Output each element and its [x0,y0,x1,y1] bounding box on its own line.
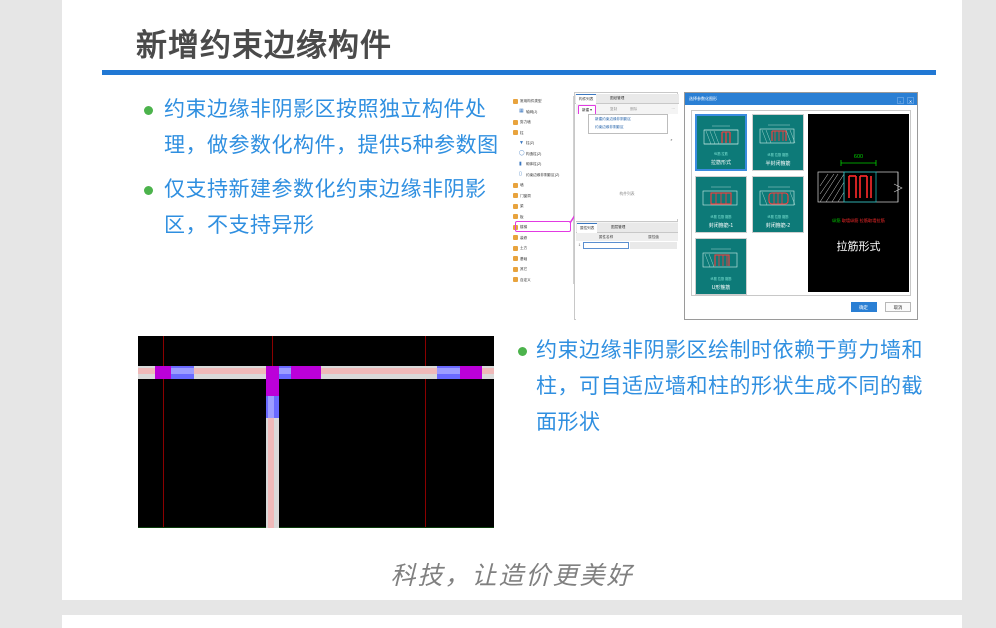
tree-item[interactable]: 剪力墙 [510,117,573,128]
tree-item[interactable]: 自定义 [510,275,573,285]
preview-drawing [808,114,909,292]
close-icon[interactable]: ✕ [907,97,914,104]
search-icon[interactable]: ⌕ [667,136,676,143]
bullet-item-right: 约束边缘非阴影区绘制时依赖于剪力墙和柱，可自适应墙和柱的形状生成不同的截面形状 [518,333,926,441]
grid-icon: ▦ [519,109,524,114]
cad-non-shadow-zone [266,366,279,396]
tab-property-list[interactable]: 属性列表 [577,223,597,233]
property-grid-empty [576,249,678,321]
thumbnail-sublabel: 纵筋 拉筋 箍筋 [753,214,803,219]
cad-axis-line [163,336,164,528]
bullet-dot-icon [144,106,153,115]
tree-item[interactable]: 柱 [510,128,573,139]
tree-item[interactable]: 墙 [510,180,573,191]
tree-selection-highlight [515,221,571,232]
tree-item[interactable]: ◯构造柱(Z) [510,149,573,160]
folder-icon [513,246,518,251]
cad-plan-view [138,336,494,528]
bullet-dot-icon [518,347,527,356]
tree-item-constrained-edge[interactable]: ▯约束边缘非阴影区(Z) [510,170,573,181]
figure-thumbnail[interactable]: 纵筋 拉筋 箍筋 封闭箍筋-2 [752,176,804,233]
bullet-item: 约束边缘非阴影区按照独立构件处理，做参数化构件，提供5种参数图 [140,92,520,164]
bullet-text: 约束边缘非阴影区按照独立构件处理，做参数化构件，提供5种参数图 [164,98,499,157]
restore-icon[interactable]: ▫ [897,97,904,104]
cad-axis-line [138,527,494,528]
cad-non-shadow-zone [291,366,321,379]
rebar-diagram-icon [701,183,743,213]
dialog-titlebar: 选择参数化图形 ▫ ✕ [685,93,917,105]
copy-button[interactable]: 复制 [610,105,617,113]
row-number: 1 [577,241,582,249]
column-icon: ▯ [519,172,524,177]
ok-button[interactable]: 确定 [851,302,877,312]
tree-item[interactable]: 装修 [510,233,573,244]
column-header-value: 属性值 [630,233,677,241]
figure-thumbnail-grid: 纵筋 拉筋 拉筋形式 纵筋 拉筋 箍筋 半封闭箍筋 [695,114,805,292]
cad-non-shadow-zone [155,366,171,379]
annotation-wall-longitudinal: 取墙纵筋 [842,218,859,223]
folder-icon [513,214,518,219]
preview-title: 拉筋形式 [808,238,909,254]
property-tabstrip: 属性列表 图层管理 [576,223,678,233]
title-underline [102,70,936,75]
bullet-text: 仅支持新建参数化约束边缘非阴影区，不支持异形 [164,178,487,237]
thumbnail-label: U形箍筋 [696,284,746,291]
property-panel: 属性列表 图层管理 属性名称 属性值 1 [576,221,678,321]
tree-item[interactable]: 常用构件类型 [510,96,573,107]
component-list-panel: 构件列表 图纸管理 新建 ▾ 复制 删除 ⋯ ⌕ 构件列表 新建约束边缘非阴影区… [574,92,678,320]
figure-thumbnail[interactable]: 纵筋 拉筋 箍筋 U形箍筋 [695,238,747,295]
menu-item-constrained-edge[interactable]: 约束边缘非阴影区 [589,123,667,131]
folder-icon [513,256,518,261]
slide-canvas: 新增约束边缘构件 约束边缘非阴影区按照独立构件处理，做参数化构件，提供5种参数图… [62,0,962,600]
figure-thumbnail[interactable]: 纵筋 拉筋 拉筋形式 [695,114,747,171]
preview-annotations: 纵筋 取墙纵筋 拉筋取墙拉筋 [808,218,909,224]
rebar-diagram-icon [702,122,744,152]
preview-dimension-label: 600 [808,154,909,160]
toolbar-overflow-icon[interactable]: ⋯ [671,105,675,113]
thumbnail-label: 半封闭箍筋 [753,160,803,167]
bullet-dot-icon [144,186,153,195]
list-tabstrip: 构件列表 图纸管理 [575,94,679,104]
column-icon: ▼ [519,141,524,146]
cad-axis-line [425,336,426,528]
rebar-diagram-icon [758,183,800,213]
bullet-text: 约束边缘非阴影区绘制时依赖于剪力墙和柱，可自适应墙和柱的形状生成不同的截面形状 [536,339,923,434]
rebar-diagram-icon [701,245,743,275]
folder-icon [513,183,518,188]
tree-item[interactable]: 梁 [510,201,573,212]
thumbnail-sublabel: 纵筋 拉筋 [697,151,745,156]
cad-shadow-core [268,396,274,418]
tree-item[interactable]: 土方 [510,243,573,254]
software-screenshot: 常用构件类型 ▦轴网(J) 剪力墙 柱 ▼柱(Z) ◯构造柱(Z) ▮砌体柱(Z… [510,92,918,320]
cancel-button[interactable]: 取消 [885,302,911,312]
tree-item[interactable]: 其它 [510,264,573,275]
rebar-diagram-icon [758,121,800,151]
thumbnail-label: 拉筋形式 [697,159,745,166]
thumbnail-label: 封闭箍筋-1 [696,222,746,229]
property-value-cell[interactable] [630,242,677,249]
thumbnail-sublabel: 纵筋 拉筋 箍筋 [696,214,746,219]
parametric-figure-dialog: 选择参数化图形 ▫ ✕ [684,92,918,320]
annotation-longitudinal: 纵筋 [832,218,840,223]
figure-thumbnail[interactable]: 纵筋 拉筋 箍筋 半封闭箍筋 [752,114,804,171]
dialog-title-text: 选择参数化图形 [689,96,717,101]
menu-item-new-constrained-edge[interactable]: 新建约束边缘非阴影区 [589,115,667,123]
slide-footer-tagline: 科技，让造价更美好 [62,556,962,592]
component-tree-panel[interactable]: 常用构件类型 ▦轴网(J) 剪力墙 柱 ▼柱(Z) ◯构造柱(Z) ▮砌体柱(Z… [510,96,574,284]
folder-icon [513,99,518,104]
cad-shadow-core [170,368,194,374]
tree-item[interactable]: ▦轴网(J) [510,107,573,118]
new-dropdown-menu[interactable]: 新建约束边缘非阴影区 约束边缘非阴影区 [588,114,668,134]
empty-list-text: 构件列表 [576,192,678,197]
dialog-body: 纵筋 拉筋 拉筋形式 纵筋 拉筋 箍筋 半封闭箍筋 [691,110,911,296]
bullet-list-left: 约束边缘非阴影区按照独立构件处理，做参数化构件，提供5种参数图 仅支持新建参数化… [140,92,520,252]
tree-item[interactable]: ▼柱(Z) [510,138,573,149]
bullet-item: 仅支持新建参数化约束边缘非阴影区，不支持异形 [140,172,520,244]
column-icon: ▮ [519,162,524,167]
figure-preview: 600 纵筋 取墙纵筋 拉筋取墙拉筋 拉筋形式 [808,114,909,292]
folder-icon [513,130,518,135]
delete-button[interactable]: 删除 [630,105,637,113]
thumbnail-sublabel: 纵筋 拉筋 箍筋 [696,276,746,281]
tree-item[interactable]: ▮砌体柱(Z) [510,159,573,170]
figure-thumbnail[interactable]: 纵筋 拉筋 箍筋 封闭箍筋-1 [695,176,747,233]
tree-item[interactable]: 门窗洞 [510,191,573,202]
folder-icon [513,235,518,240]
folder-icon [513,267,518,272]
dialog-window-buttons: ▫ ✕ [895,96,914,103]
annotation-wall-tie: 拉筋取墙拉筋 [860,218,885,223]
dialog-footer: 确定 取消 [847,296,911,314]
tree-item[interactable]: 基础 [510,254,573,265]
cad-non-shadow-zone [460,366,482,379]
folder-icon [513,120,518,125]
column-header-name: 属性名称 [583,233,629,241]
folder-icon [513,204,518,209]
tab-component-list[interactable]: 构件列表 [576,94,596,104]
cad-shadow-core [437,368,461,374]
thumbnail-label: 封闭箍筋-2 [753,222,803,229]
tab-layer-manager[interactable]: 图层管理 [608,223,628,232]
folder-icon [513,193,518,198]
next-slide-edge [62,615,962,628]
property-name-cell[interactable] [583,242,629,249]
page-title: 新增约束边缘构件 [136,20,392,65]
column-icon: ◯ [519,151,524,156]
tab-drawing-manager[interactable]: 图纸管理 [607,94,627,103]
thumbnail-sublabel: 纵筋 拉筋 箍筋 [753,152,803,157]
folder-icon [513,277,518,282]
